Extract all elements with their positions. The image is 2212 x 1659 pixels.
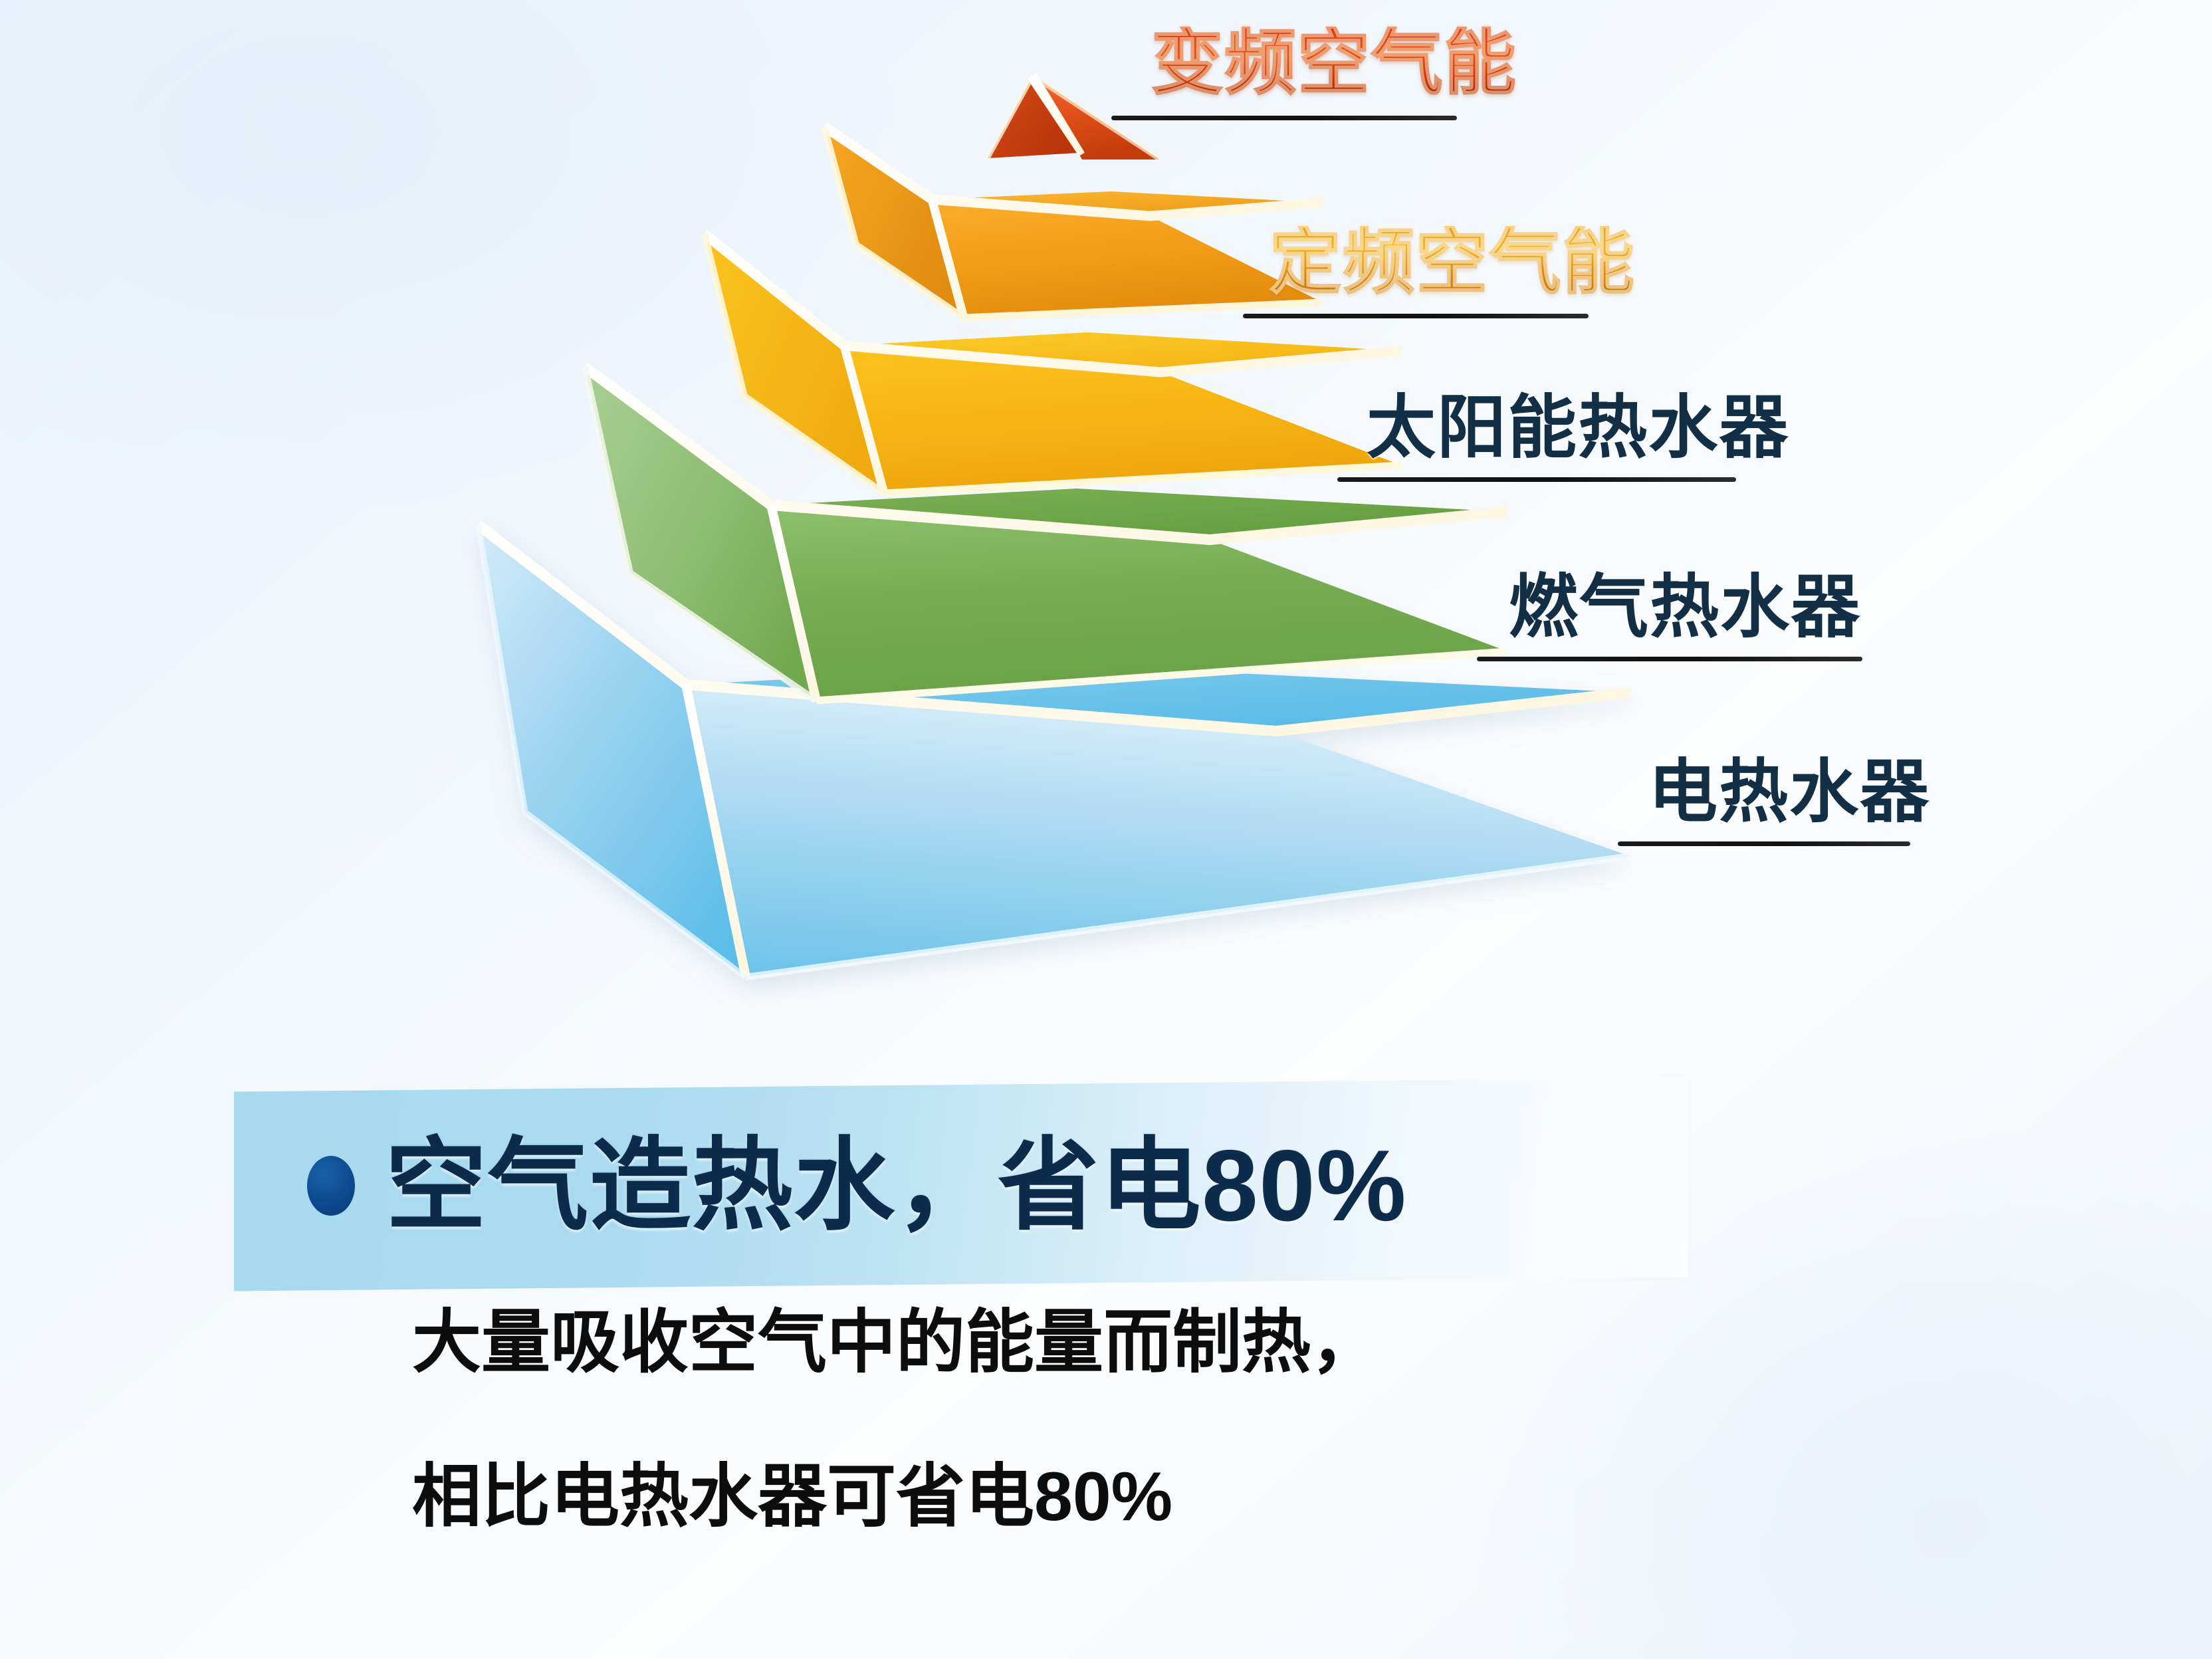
- tier-label-apex: 变频空气能: [1151, 27, 1517, 120]
- pyramid-tier-second: [824, 126, 1323, 318]
- body-line-2: 相比电热水器可省电80%: [412, 1462, 1874, 1531]
- bullet-dot-icon: [307, 1156, 355, 1216]
- headline-text: 空气造热水，省电80%: [386, 1135, 1407, 1236]
- tier-label-second: 定频空气能: [1270, 226, 1636, 318]
- tier-label-apex-text: 变频空气能: [1151, 27, 1517, 98]
- energy-pyramid-graphic: [0, 0, 1795, 1010]
- tier-label-fourth-text: 燃气热水器: [1509, 573, 1862, 642]
- tier-label-base: 电热水器: [1648, 758, 1930, 846]
- body-line-1: 大量吸收空气中的能量而制热，: [412, 1308, 1874, 1377]
- tier-label-third-underline: [1337, 477, 1736, 482]
- headline-banner: 空气造热水，省电80%: [234, 1077, 1688, 1291]
- tier-label-fourth: 燃气热水器: [1509, 573, 1862, 661]
- tier-label-base-text: 电热水器: [1648, 758, 1930, 827]
- tier-label-apex-underline: [1111, 116, 1457, 120]
- tier-label-base-underline: [1618, 841, 1910, 846]
- tier-label-third: 太阳能热水器: [1367, 393, 1789, 482]
- tier-label-second-text: 定频空气能: [1270, 226, 1636, 298]
- tier-label-fourth-underline: [1477, 657, 1862, 661]
- body-copy: 大量吸收空气中的能量而制热， 相比电热水器可省电80%: [412, 1308, 1874, 1616]
- headline-inner: 空气造热水，省电80%: [234, 1135, 1407, 1236]
- tier-label-second-underline: [1243, 314, 1589, 318]
- tier-label-third-text: 太阳能热水器: [1367, 393, 1789, 463]
